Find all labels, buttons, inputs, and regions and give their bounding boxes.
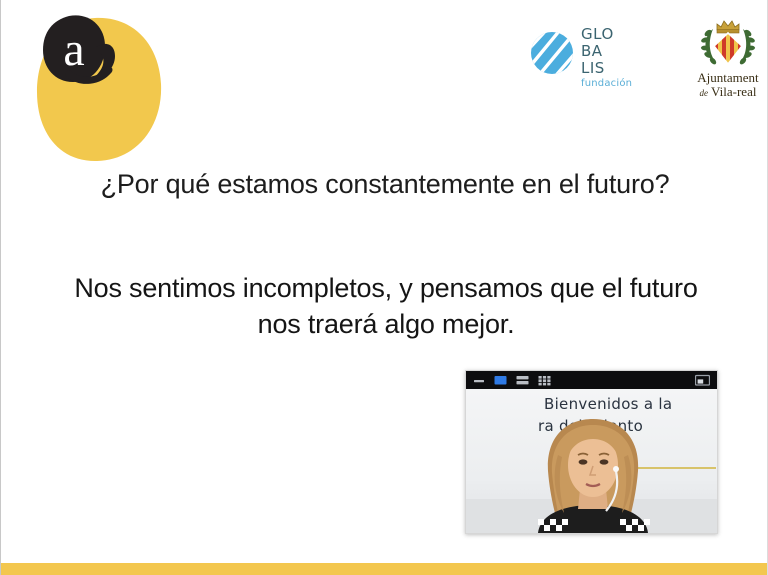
ajuntament-line-2: de Vila-real: [687, 85, 768, 100]
crown-icon: [717, 21, 739, 33]
globalis-subtitle: fundación: [581, 79, 632, 89]
split-view-icon[interactable]: [516, 374, 529, 386]
globalis-line-1: GLO: [581, 26, 632, 43]
picture-in-picture-icon[interactable]: [695, 374, 710, 386]
slide-subline: Nos sentimos incompletos, y pensamos que…: [61, 270, 711, 342]
ajuntament-de: de: [700, 88, 709, 98]
minimize-icon[interactable]: [473, 374, 485, 386]
globalis-logo: GLO BA LIS fundación: [528, 26, 648, 98]
gallery-grid-view-icon[interactable]: [538, 374, 551, 386]
projected-line-1: Bienvenidos a la: [544, 395, 672, 413]
ajuntament-line-1: Ajuntament: [687, 71, 768, 85]
video-stage[interactable]: Bienvenidos a la ra del talento enestar: [466, 389, 717, 533]
shield-senyera: [714, 33, 742, 67]
bottom-accent-bar: [1, 563, 767, 575]
video-toolbar[interactable]: [466, 371, 717, 389]
slide-headline: ¿Por qué estamos constantemente en el fu…: [89, 166, 681, 202]
globalis-wordmark: GLO BA LIS fundación: [581, 26, 632, 89]
logo-letter: a: [63, 23, 84, 76]
ajuntament-vila-real-logo: Ajuntament de Vila-real: [687, 17, 768, 100]
speaker-webcam-video[interactable]: [518, 413, 668, 533]
ajuntament-city: Vila-real: [711, 84, 756, 99]
presentation-slide: a GLO BA LIS fundación: [0, 0, 768, 575]
globalis-line-3: LIS: [581, 60, 632, 77]
video-conference-panel[interactable]: Bienvenidos a la ra del talento enestar: [465, 370, 718, 534]
globalis-line-2: BA: [581, 43, 632, 60]
alquimia-a-logo: a: [29, 10, 169, 168]
active-speaker-view-icon[interactable]: [494, 374, 507, 386]
coat-of-arms-icon: [697, 17, 759, 69]
globalis-sphere-icon: [528, 28, 576, 78]
